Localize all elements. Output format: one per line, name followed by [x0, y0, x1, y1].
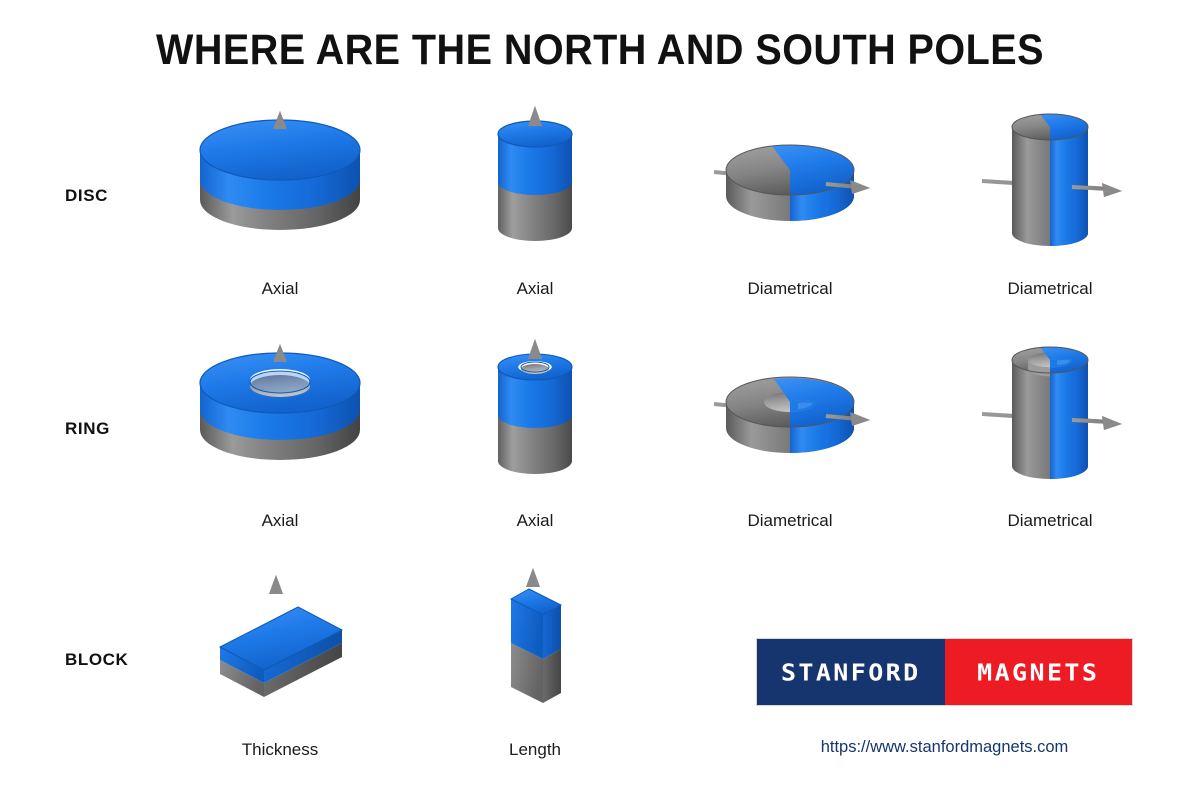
caption-ring-axial: Axial	[195, 511, 365, 531]
row-label-block: BLOCK	[65, 650, 128, 670]
figure-tube-diametrical	[960, 338, 1140, 493]
logo-right-panel: MAGNETS	[945, 639, 1133, 705]
infographic-canvas: WHERE ARE THE NORTH AND SOUTH POLES DISC…	[0, 0, 1200, 800]
magnet-body-tube-split	[1012, 347, 1088, 479]
figure-disc-diametrical	[700, 130, 880, 240]
figure-disc-axial	[195, 105, 365, 255]
magnet-body-block-tall	[511, 589, 561, 703]
caption-cylinder-diametrical: Diametrical	[960, 279, 1140, 299]
caption-tube-diametrical: Diametrical	[960, 511, 1140, 531]
row-label-disc: DISC	[65, 186, 108, 206]
figure-block-thickness	[190, 565, 370, 720]
figure-block-length	[485, 563, 585, 728]
figure-cylinder-axial	[490, 100, 580, 265]
caption-ring-diametrical: Diametrical	[700, 511, 880, 531]
figure-cylinder-diametrical	[960, 105, 1140, 260]
magnet-body-block-flat	[220, 607, 342, 697]
caption-block-thickness: Thickness	[190, 740, 370, 760]
magnet-body-cylinder-split	[1012, 114, 1088, 246]
caption-tube-axial: Axial	[470, 511, 600, 531]
stanford-magnets-logo[interactable]: STANFORD MAGNETS	[757, 639, 1132, 705]
logo-word-magnets: MAGNETS	[977, 659, 1099, 686]
caption-cylinder-axial: Axial	[470, 279, 600, 299]
logo-word-stanford: STANFORD	[781, 659, 921, 686]
figure-tube-axial	[490, 333, 580, 498]
page-title: WHERE ARE THE NORTH AND SOUTH POLES	[48, 26, 1152, 75]
caption-disc-axial: Axial	[195, 279, 365, 299]
caption-block-length: Length	[470, 740, 600, 760]
row-label-ring: RING	[65, 419, 110, 439]
caption-disc-diametrical: Diametrical	[700, 279, 880, 299]
figure-ring-diametrical	[700, 362, 880, 472]
website-url[interactable]: https://www.stanfordmagnets.com	[757, 738, 1132, 757]
figure-ring-axial	[195, 338, 365, 488]
logo-left-panel: STANFORD	[757, 639, 945, 705]
